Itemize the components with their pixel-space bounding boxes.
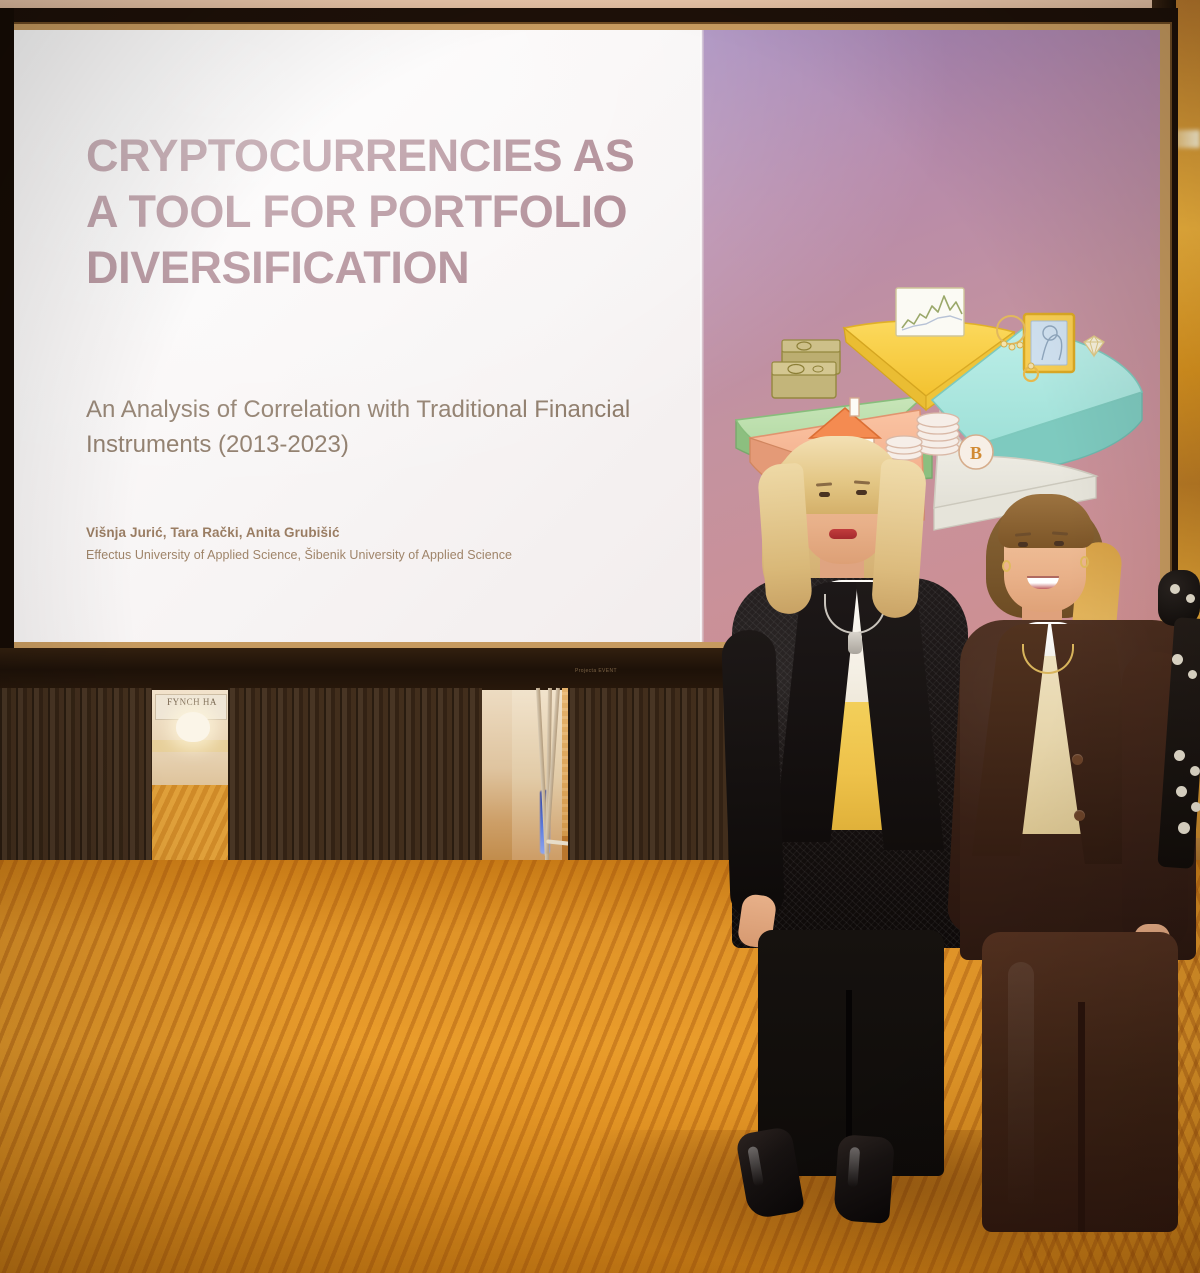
background-room-floor [150,785,230,865]
umbrella-dot [1178,822,1190,834]
umbrella-dot [1191,802,1200,812]
left-arm [721,629,785,921]
slide-authors: Višnja Jurić, Tara Rački, Anita Grubišić [86,525,686,540]
screen-brand-label: Projecta EVENT [556,668,636,676]
background-room-gap-mid [480,690,512,865]
trouser-leg-split [1078,1002,1085,1232]
photo-scene: CRYPTOCURRENCIES AS A TOOL FOR PORTFOLIO… [0,0,1200,1273]
eye-right [1054,541,1064,546]
boot-shine [847,1147,860,1188]
earring-right [1080,556,1089,568]
eye-right [856,490,867,495]
boot-shine [747,1146,764,1187]
slide-subtitle: An Analysis of Correlation with Traditio… [86,393,676,462]
cash-bundles-icon [772,340,840,398]
umbrella-dot [1172,654,1183,665]
earring-left [1002,560,1011,572]
curtain-center [228,688,482,868]
eye-left [819,492,830,497]
screen-left-shadow [0,8,14,696]
umbrella-dot [1174,750,1185,761]
curtain-left [0,688,152,870]
person-presenter-left [716,430,986,1220]
slide-title: CRYPTOCURRENCIES AS A TOOL FOR PORTFOLIO… [86,128,666,295]
hair-top [998,494,1094,548]
blazer-button [1072,754,1083,765]
polka-dot-umbrella [1150,570,1200,900]
umbrella-dot [1176,786,1187,797]
necklace-pendant [848,632,862,654]
background-room-sign-text: FYNCH HA [157,697,227,707]
umbrella-dot [1186,594,1195,603]
stock-chart-icon [896,288,964,336]
umbrella-dot [1188,670,1197,679]
boot-right [833,1134,895,1224]
umbrella-dot [1190,766,1200,776]
blazer-button [1074,810,1085,821]
trouser-sheen [1008,962,1034,1212]
slide-affiliation: Effectus University of Applied Science, … [86,548,706,562]
umbrella-dot [1170,584,1180,594]
eye-left [1018,542,1028,547]
background-room-lamp [176,712,210,742]
lips [829,529,857,539]
